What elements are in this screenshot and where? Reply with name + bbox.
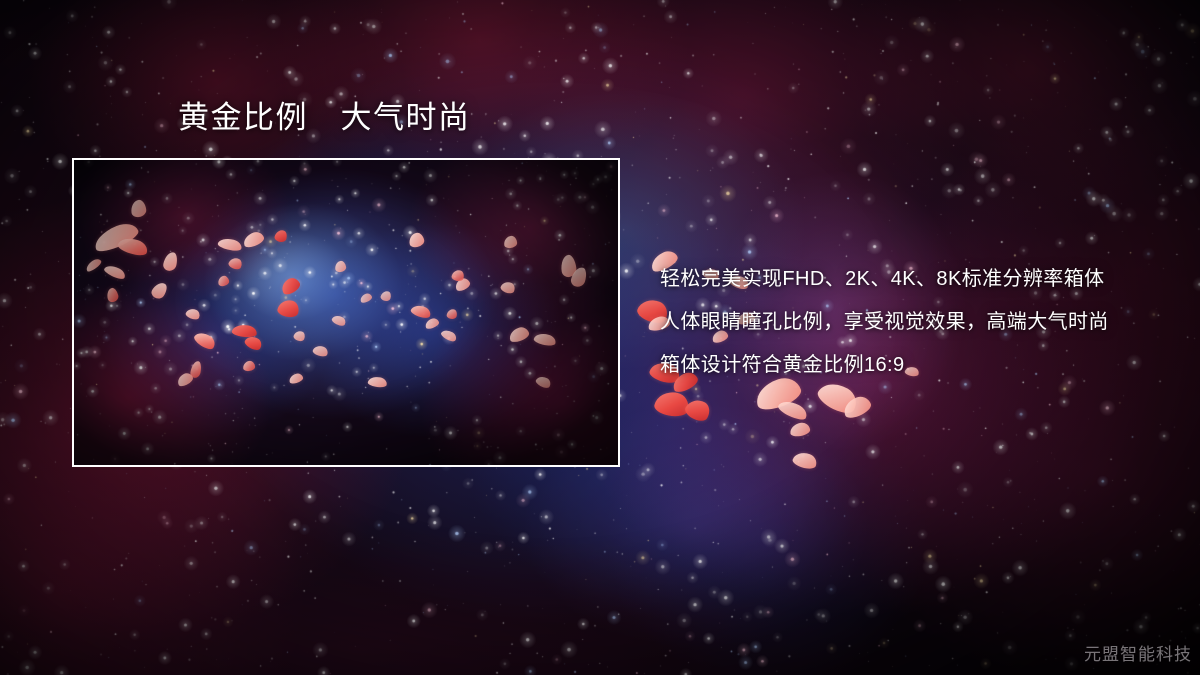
image-frame	[72, 158, 620, 467]
flower-petal	[789, 422, 811, 438]
body-text-block: 轻松完美实现FHD、2K、4K、8K标准分辨率箱体 人体眼睛瞳孔比例，享受视觉效…	[660, 258, 1160, 387]
body-line-1: 轻松完美实现FHD、2K、4K、8K标准分辨率箱体	[660, 258, 1160, 301]
inner-vignette-overlay	[74, 160, 618, 465]
body-line-2: 人体眼睛瞳孔比例，享受视觉效果，高端大气时尚	[660, 301, 1160, 344]
flower-petal	[791, 450, 818, 472]
flower-petal	[653, 389, 691, 420]
body-line-3: 箱体设计符合黄金比例16:9	[660, 344, 1160, 387]
watermark-label: 元盟智能科技	[1084, 640, 1192, 665]
framed-nebula-photo	[74, 160, 618, 465]
page-title: 黄金比例 大气时尚	[178, 99, 471, 138]
presentation-slide: 黄金比例 大气时尚 轻松完美实现FHD、2K、4K、8K标准分辨率箱体 人体眼睛…	[0, 0, 1200, 675]
